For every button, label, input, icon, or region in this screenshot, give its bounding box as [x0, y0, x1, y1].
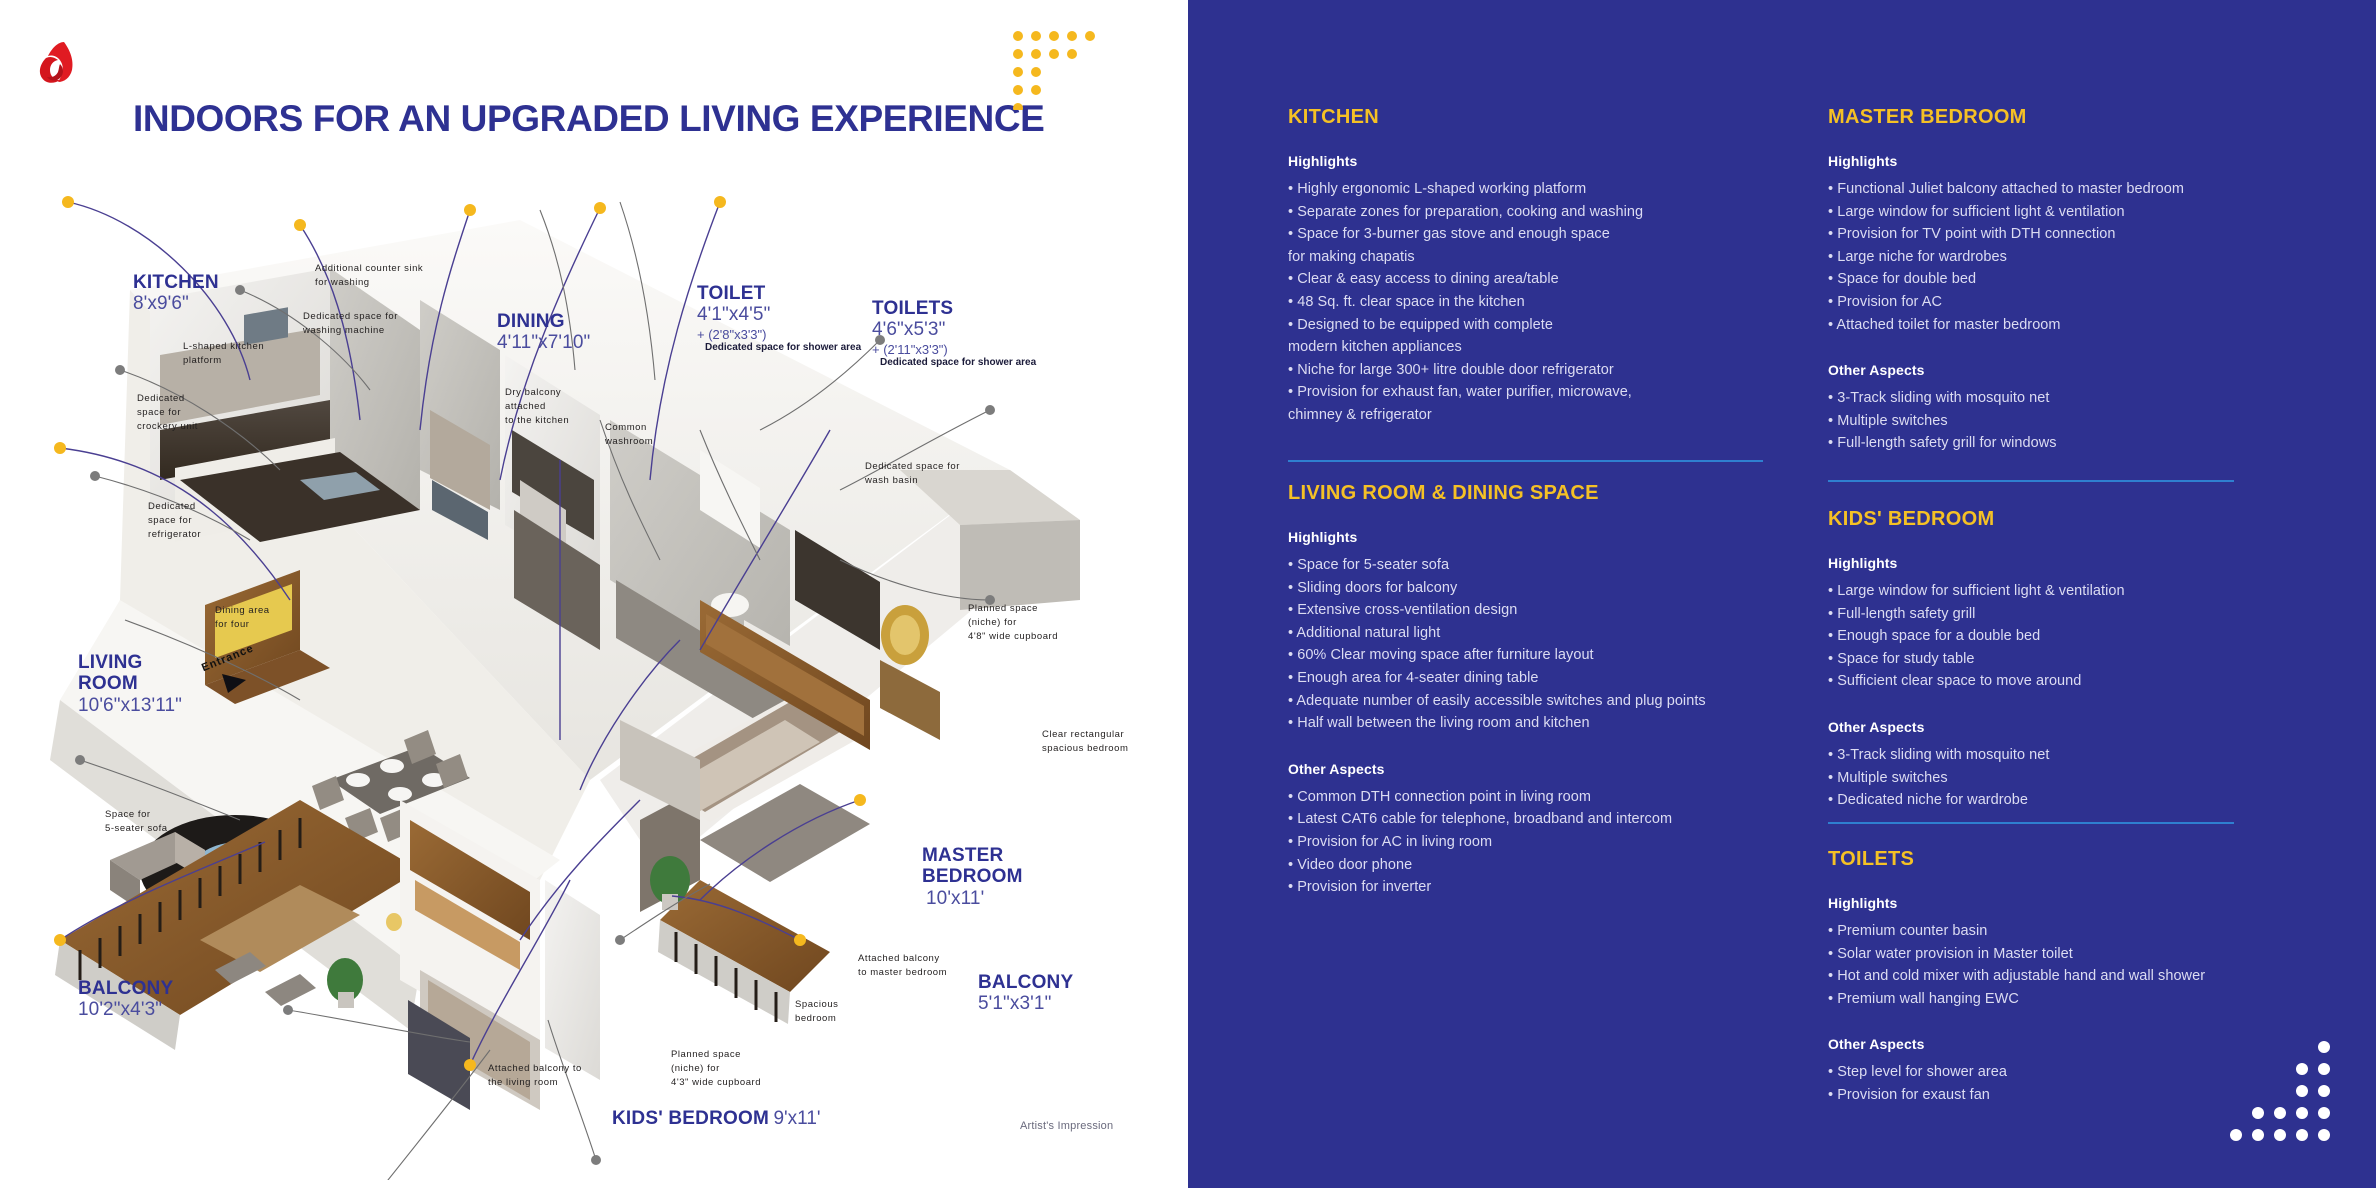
list-item: • Sliding doors for balcony [1288, 577, 1788, 600]
list-item: • Space for 3-burner gas stove and enoug… [1288, 223, 1768, 268]
note-counter-sink: Additional counter sink for washing [315, 262, 423, 290]
note-attached-balcony-master: Attached balcony to master bedroom [858, 952, 947, 980]
list-item: • Enough area for 4-seater dining table [1288, 667, 1788, 690]
list-item: • Provision for AC [1828, 291, 2298, 314]
list-item: • Premium counter basin [1828, 920, 2298, 943]
list-item: • 3-Track sliding with mosquito net [1828, 387, 2298, 410]
list-item: • Space for study table [1828, 648, 2298, 671]
list-item: • Niche for large 300+ litre double door… [1288, 359, 1768, 382]
note-clear-bedroom: Clear rectangular spacious bedroom [1042, 728, 1128, 756]
entrance-arrow-icon [222, 672, 248, 699]
note-planned-niche-4-3: Planned space (niche) for 4'3" wide cupb… [671, 1048, 761, 1089]
list-item: • Large window for sufficient light & ve… [1828, 201, 2298, 224]
kids-other-aspects: Other Aspects • 3-Track sliding with mos… [1828, 719, 2298, 812]
master-highlights: Highlights • Functional Juliet balcony a… [1828, 153, 2298, 336]
spec-section-living-dining: LIVING ROOM & DINING SPACE Highlights • … [1288, 482, 1788, 925]
list-item: • 60% Clear moving space after furniture… [1288, 644, 1788, 667]
list-item: • Solar water provision in Master toilet [1828, 943, 2298, 966]
toilets-highlights: Highlights • Premium counter basin • Sol… [1828, 895, 2298, 1010]
note-washing-machine: Dedicated space for washing machine [303, 310, 398, 338]
list-item: • Premium wall hanging EWC [1828, 988, 2298, 1011]
page-title: INDOORS FOR AN UPGRADED LIVING EXPERIENC… [133, 98, 1044, 140]
list-item: • Clear & easy access to dining area/tab… [1288, 268, 1768, 291]
floorplan-panel: INDOORS FOR AN UPGRADED LIVING EXPERIENC… [0, 0, 1188, 1188]
list-item: • Half wall between the living room and … [1288, 712, 1788, 735]
list-item: • Full-length safety grill for windows [1828, 432, 2298, 455]
list-item: • 3-Track sliding with mosquito net [1828, 744, 2298, 767]
company-logo [34, 38, 86, 90]
list-item: • Provision for inverter [1288, 876, 1788, 899]
list-item: • Common DTH connection point in living … [1288, 786, 1788, 809]
list-item: • Video door phone [1288, 854, 1788, 877]
note-attached-balcony-living: Attached balcony to the living room [488, 1062, 582, 1090]
room-label-balcony-living: BALCONY 10'2"x4'3" [78, 978, 173, 1022]
list-item: • Large window for sufficient light & ve… [1828, 580, 2298, 603]
room-label-kids-bedroom: KIDS' BEDROOM 9'x11' [612, 1108, 821, 1130]
decorative-dot-pattern-top [1012, 30, 1098, 115]
living-highlights: Highlights • Space for 5-seater sofa • S… [1288, 529, 1788, 735]
specifications-panel: KITCHEN Highlights • Highly ergonomic L-… [1188, 0, 2376, 1188]
list-item: • Space for double bed [1828, 268, 2298, 291]
section-divider [1828, 480, 2234, 482]
list-item: • Extensive cross-ventilation design [1288, 599, 1788, 622]
brochure-page: INDOORS FOR AN UPGRADED LIVING EXPERIENC… [0, 0, 2376, 1188]
list-item: • Space for 5-seater sofa [1288, 554, 1788, 577]
note-dining-area: Dining area for four [215, 604, 270, 632]
list-item: • Multiple switches [1828, 767, 2298, 790]
section-divider [1828, 822, 2234, 824]
list-item: • Large niche for wardrobes [1828, 246, 2298, 269]
room-label-living-room: LIVING ROOM 10'6"x13'11" [78, 652, 182, 717]
list-item: • Provision for AC in living room [1288, 831, 1788, 854]
list-item: • Designed to be equipped with complete … [1288, 314, 1768, 359]
note-planned-niche-4-8: Planned space (niche) for 4'8" wide cupb… [968, 602, 1058, 643]
note-crockery-unit: Dedicated space for crockery unit [137, 392, 198, 433]
list-item: • Full-length safety grill [1828, 603, 2298, 626]
list-item: • Functional Juliet balcony attached to … [1828, 178, 2298, 201]
list-item: • Provision for exhaust fan, water purif… [1288, 381, 1768, 426]
note-spacious-bedroom: Spacious bedroom [795, 998, 838, 1026]
room-label-kitchen: KITCHEN 8'x9'6" [133, 272, 219, 316]
note-common-washroom: Common washroom [605, 421, 653, 449]
list-item: • Hot and cold mixer with adjustable han… [1828, 965, 2298, 988]
list-item: • 48 Sq. ft. clear space in the kitchen [1288, 291, 1768, 314]
kids-highlights: Highlights • Large window for sufficient… [1828, 555, 2298, 693]
room-label-dining: DINING 4'11"x7'10" [497, 311, 590, 355]
spec-section-kitchen: KITCHEN Highlights • Highly ergonomic L-… [1288, 106, 1768, 453]
spec-section-master-bedroom: MASTER BEDROOM Highlights • Functional J… [1828, 106, 2298, 481]
list-item: • Adequate number of easily accessible s… [1288, 690, 1788, 713]
list-item: • Highly ergonomic L-shaped working plat… [1288, 178, 1768, 201]
list-item: • Sufficient clear space to move around [1828, 670, 2298, 693]
note-kitchen-platform: L-shaped kitchen platform [183, 340, 264, 368]
list-item: • Additional natural light [1288, 622, 1788, 645]
note-wash-basin: Dedicated space for wash basin [865, 460, 960, 488]
room-label-balcony-master: BALCONY 5'1"x3'1" [978, 972, 1073, 1016]
list-item: • Multiple switches [1828, 410, 2298, 433]
artist-impression-credit: Artist's Impression [1020, 1120, 1113, 1132]
note-dry-balcony: Dry balcony attached to the kitchen [505, 386, 569, 427]
room-label-master-bedroom: MASTER BEDROOM 10'x11' [922, 845, 1023, 910]
spec-section-kids-bedroom: KIDS' BEDROOM Highlights • Large window … [1828, 508, 2298, 838]
decorative-dot-pattern-bottom [2228, 1037, 2334, 1148]
list-item: • Attached toilet for master bedroom [1828, 314, 2298, 337]
room-label-toilet: TOILET 4'1"x4'5" + (2'8"x3'3") Dedicated… [697, 283, 861, 355]
list-item: • Latest CAT6 cable for telephone, broad… [1288, 808, 1788, 831]
room-label-toilets: TOILETS 4'6"x5'3" + (2'11"x3'3") Dedicat… [872, 298, 1036, 370]
section-divider [1288, 460, 1763, 462]
note-5-seater-sofa: Space for 5-seater sofa [105, 808, 168, 836]
kitchen-highlights: Highlights • Highly ergonomic L-shaped w… [1288, 153, 1768, 427]
list-item: • Separate zones for preparation, cookin… [1288, 201, 1768, 224]
list-item: • Dedicated niche for wardrobe [1828, 789, 2298, 812]
note-refrigerator: Dedicated space for refrigerator [148, 500, 201, 541]
list-item: • Enough space for a double bed [1828, 625, 2298, 648]
living-other-aspects: Other Aspects • Common DTH connection po… [1288, 761, 1788, 899]
list-item: • Provision for TV point with DTH connec… [1828, 223, 2298, 246]
master-other-aspects: Other Aspects • 3-Track sliding with mos… [1828, 362, 2298, 455]
